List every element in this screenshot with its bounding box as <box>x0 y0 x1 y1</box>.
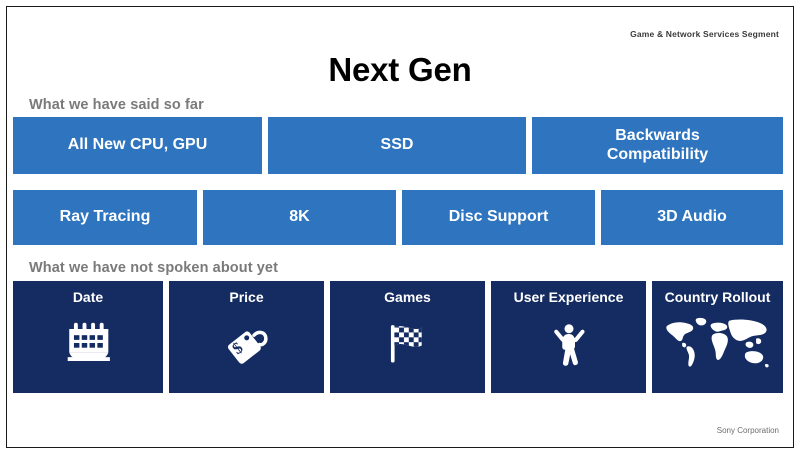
topic-tile-label: Games <box>384 290 431 305</box>
topic-tile-user-experience[interactable]: User Experience <box>491 281 646 393</box>
feature-tile-label: 3D Audio <box>657 208 727 226</box>
feature-tile-all-new-cpu-gpu[interactable]: All New CPU, GPU <box>13 117 262 174</box>
feature-tile-disc-support[interactable]: Disc Support <box>402 190 595 245</box>
feature-tile-label: 8K <box>289 208 309 226</box>
feature-tile-label-line2: Compatibility <box>607 146 708 164</box>
slide-canvas: Game & Network Services Segment Next Gen… <box>6 6 794 448</box>
footer-note: Sony Corporation <box>717 426 779 435</box>
section-heading-not-spoken: What we have not spoken about yet <box>29 260 278 276</box>
feature-tile-3d-audio[interactable]: 3D Audio <box>601 190 783 245</box>
feature-tile-8k[interactable]: 8K <box>203 190 396 245</box>
topic-tile-games[interactable]: Games <box>330 281 485 393</box>
feature-tile-label: Ray Tracing <box>60 208 151 226</box>
topic-tile-label: Price <box>229 290 263 305</box>
topic-tile-date[interactable]: Date <box>13 281 163 393</box>
feature-tile-ssd[interactable]: SSD <box>268 117 526 174</box>
feature-tile-ray-tracing[interactable]: Ray Tracing <box>13 190 197 245</box>
feature-tile-label: SSD <box>381 136 414 154</box>
topic-tile-label: Country Rollout <box>665 290 771 305</box>
topic-tile-label: User Experience <box>514 290 624 305</box>
checkered-flag-icon <box>378 314 438 372</box>
feature-tile-label: All New CPU, GPU <box>68 136 208 154</box>
calendar-icon <box>58 314 118 372</box>
topic-tile-country-rollout[interactable]: Country Rollout <box>652 281 783 393</box>
segment-label: Game & Network Services Segment <box>630 29 779 39</box>
feature-tile-label: Disc Support <box>449 208 549 226</box>
section-heading-said: What we have said so far <box>29 97 204 113</box>
world-map-icon <box>659 314 777 370</box>
page-title: Next Gen <box>7 51 793 89</box>
topic-tile-price[interactable]: Price $ <box>169 281 324 393</box>
jumping-person-icon <box>539 314 599 372</box>
topic-tile-label: Date <box>73 290 103 305</box>
price-tag-icon: $ <box>217 314 277 372</box>
feature-tile-backwards-compatibility[interactable]: Backwards Compatibility <box>532 117 783 174</box>
feature-tile-label-line1: Backwards <box>615 127 700 145</box>
